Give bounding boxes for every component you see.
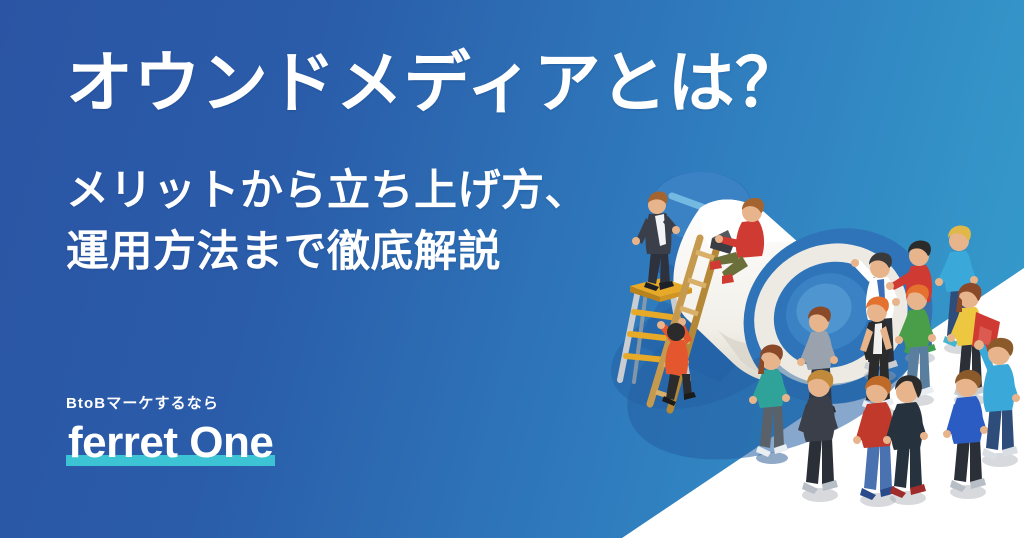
figure-sitting-with-laptop (710, 198, 764, 284)
logo-wordmark: ferret One (68, 418, 273, 467)
banner-root: オウンドメディアとは？ メリットから立ち上げ方、 運用方法まで徹底解説 BtoB… (0, 0, 1024, 538)
brand-logo-lockup[interactable]: BtoBマーケするなら ferret One (66, 396, 275, 470)
page-subtitle: メリットから立ち上げ方、 運用方法まで徹底解説 (66, 119, 686, 283)
subtitle-line-2: 運用方法まで徹底解説 (66, 222, 686, 283)
logo-tagline: BtoBマーケするなら (66, 396, 275, 411)
logo-wordmark-wrap: ferret One (66, 421, 275, 470)
subtitle-line-1: メリットから立ち上げ方、 (66, 161, 686, 222)
page-title: オウンドメディアとは？ (66, 48, 686, 119)
headline-block: オウンドメディアとは？ メリットから立ち上げ方、 運用方法まで徹底解説 (66, 48, 686, 283)
megaphone-cone (673, 199, 855, 383)
